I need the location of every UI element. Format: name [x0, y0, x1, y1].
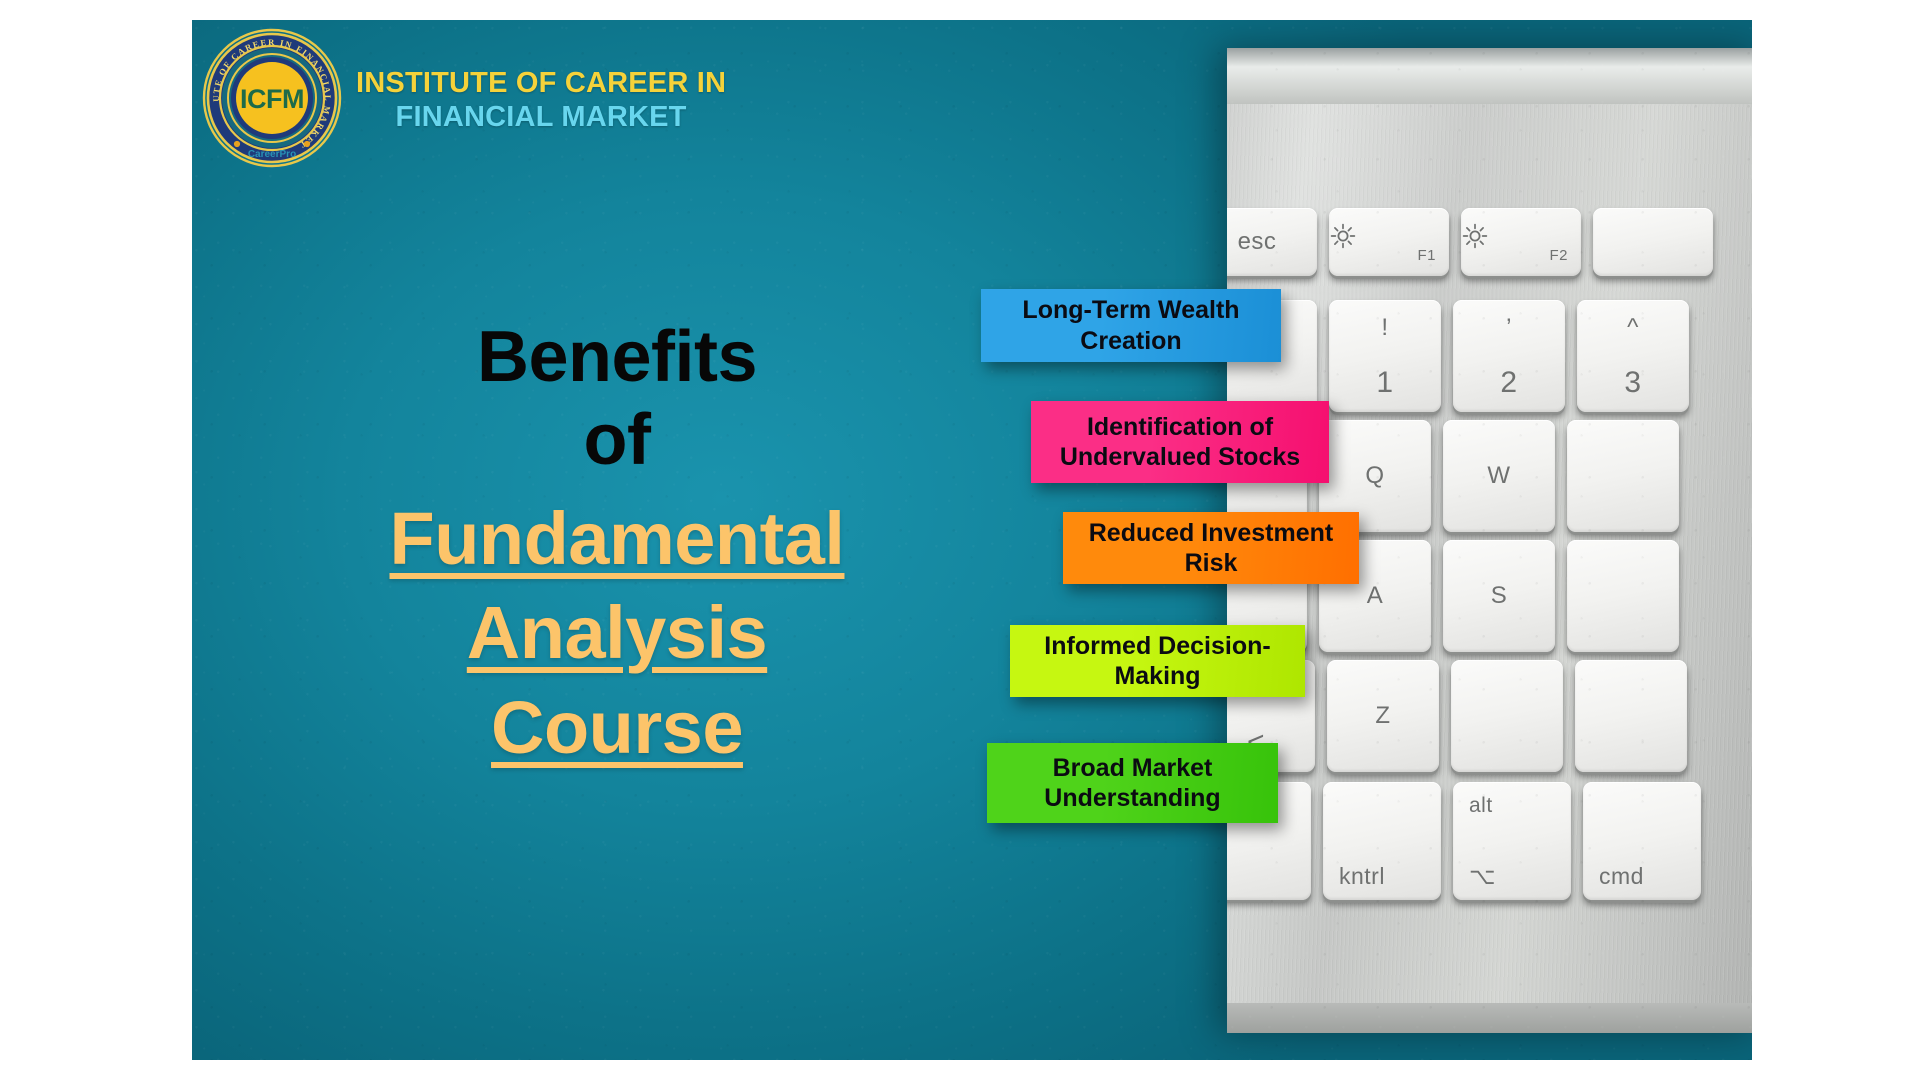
key-f3[interactable]	[1593, 208, 1713, 276]
benefit-bar[interactable]: Long-Term Wealth Creation	[981, 289, 1281, 362]
poster-canvas: escF1F2!1’2^3QWAS><Zkntrlalt⌥cmd	[192, 20, 1752, 1060]
key-fn-label: F2	[1549, 247, 1568, 264]
headline-of: of	[327, 403, 907, 478]
key-key-c[interactable]	[1575, 660, 1687, 772]
key-key-3[interactable]: ^3	[1577, 300, 1689, 412]
icfm-logo-icon: INSTITUTE OF CAREER IN FINANCIAL MARKET …	[202, 28, 342, 168]
key-label: cmd	[1599, 863, 1644, 890]
brand-line-2: FINANCIAL MARKET	[356, 100, 726, 134]
key-label: Z	[1375, 702, 1390, 730]
key-key-z[interactable]: Z	[1327, 660, 1439, 772]
poster-white-matte: escF1F2!1’2^3QWAS><Zkntrlalt⌥cmd	[0, 0, 1920, 1080]
key-label: W	[1487, 462, 1510, 490]
key-lower-label: 3	[1577, 366, 1689, 400]
benefit-bar[interactable]: Informed Decision-Making	[1010, 625, 1305, 697]
keyboard-row: kntrlalt⌥cmd	[1227, 782, 1701, 900]
key-f1[interactable]: F1	[1329, 208, 1449, 276]
benefit-bar[interactable]: Reduced Investment Risk	[1063, 512, 1359, 584]
brand-header: INSTITUTE OF CAREER IN FINANCIAL MARKET …	[202, 28, 726, 168]
headline-benefits: Benefits	[327, 320, 907, 395]
key-label: esc	[1238, 228, 1277, 256]
keyboard-bottom-bevel	[1227, 1003, 1752, 1033]
key-key-x[interactable]	[1451, 660, 1563, 772]
benefit-bar-label: Broad MarketUnderstanding	[1044, 753, 1220, 814]
key-label: kntrl	[1339, 863, 1385, 890]
brightness-high-icon	[1461, 222, 1581, 250]
logo-subtext: CareerPro	[248, 149, 296, 160]
brand-text: INSTITUTE OF CAREER IN FINANCIAL MARKET	[356, 62, 726, 134]
key-key-d[interactable]	[1567, 540, 1679, 652]
key-alt[interactable]: alt⌥	[1453, 782, 1571, 900]
key-esc[interactable]: esc	[1227, 208, 1317, 276]
key-fn-label: F1	[1417, 247, 1436, 264]
benefit-bar-label: Reduced Investment Risk	[1077, 518, 1345, 579]
key-label: ⌥	[1469, 863, 1496, 890]
key-label: A	[1367, 582, 1384, 610]
benefit-bar-label: Long-Term Wealth Creation	[995, 295, 1267, 356]
keyboard-row: escF1F2	[1227, 208, 1713, 276]
key-key-w[interactable]: W	[1443, 420, 1555, 532]
benefit-bar-label: Informed Decision-Making	[1024, 631, 1291, 692]
key-upper-label: ’	[1453, 314, 1565, 342]
benefit-bar[interactable]: Broad MarketUnderstanding	[987, 743, 1278, 823]
headline-block: Benefits of Fundamental Analysis Course	[327, 320, 907, 776]
key-f2[interactable]: F2	[1461, 208, 1581, 276]
key-lower-label: 2	[1453, 366, 1565, 400]
key-upper-label: !	[1329, 314, 1441, 342]
keyboard-top-bevel	[1227, 48, 1752, 104]
key-key-2[interactable]: ’2	[1453, 300, 1565, 412]
brightness-low-icon	[1329, 222, 1449, 250]
key-upper-label: alt	[1469, 794, 1493, 818]
keyboard-row: !1’2^3	[1227, 300, 1689, 412]
key-kntrl[interactable]: kntrl	[1323, 782, 1441, 900]
key-key-e[interactable]	[1567, 420, 1679, 532]
benefit-bar-label: Identification ofUndervalued Stocks	[1060, 412, 1300, 473]
key-upper-label: ^	[1577, 314, 1689, 342]
key-key-1[interactable]: !1	[1329, 300, 1441, 412]
brand-line-1: INSTITUTE OF CAREER IN	[356, 66, 726, 100]
key-key-s[interactable]: S	[1443, 540, 1555, 652]
headline-course: Course	[327, 681, 907, 776]
benefit-bar[interactable]: Identification ofUndervalued Stocks	[1031, 401, 1329, 483]
headline-course-name: Fundamental Analysis Course	[327, 492, 907, 776]
key-cmd[interactable]: cmd	[1583, 782, 1701, 900]
key-label: S	[1491, 582, 1508, 610]
key-label: Q	[1365, 462, 1384, 490]
logo-ring-text-alt: INSTITUTE OF CAREER IN FINANCIAL MARKET	[342, 28, 343, 29]
headline-fundamental: Fundamental	[327, 492, 907, 587]
key-lower-label: 1	[1329, 366, 1441, 400]
headline-analysis: Analysis	[327, 586, 907, 681]
logo-monogram: ICFM	[240, 84, 304, 114]
